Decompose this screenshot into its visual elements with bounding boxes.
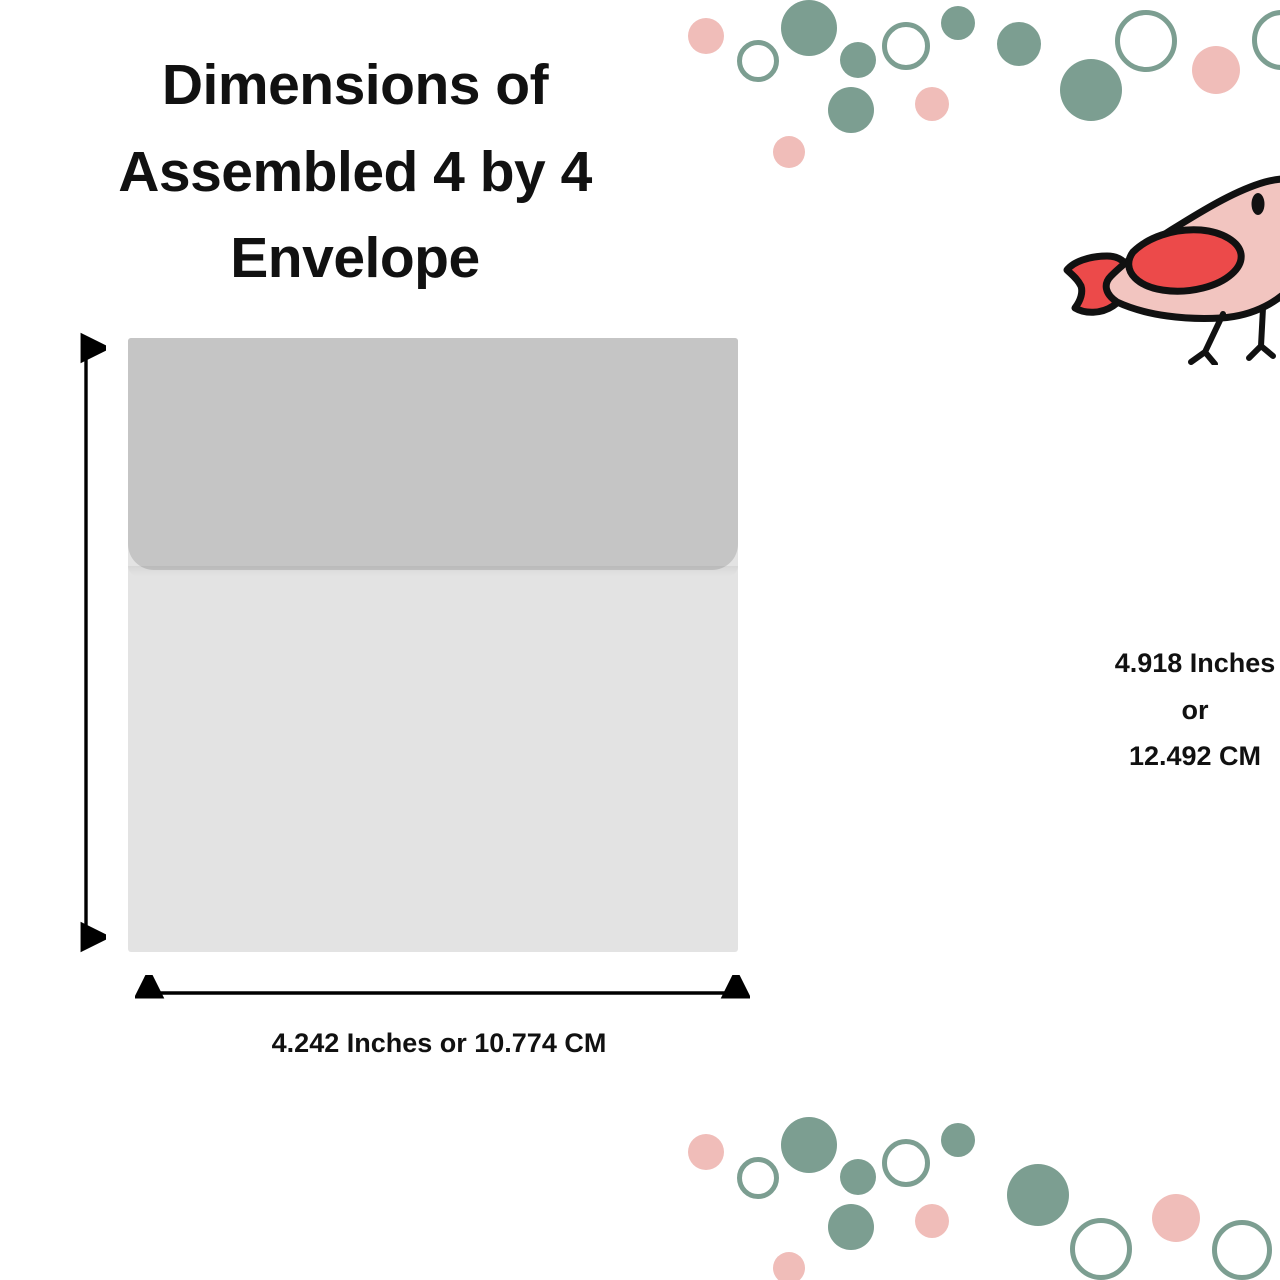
decorative-dot-icon [915, 1204, 949, 1238]
bird-eye-icon [1252, 193, 1265, 215]
decorative-dot-icon [1007, 1164, 1069, 1226]
poster-canvas: Dimensions of Assembled 4 by 4 Envelope [0, 0, 1280, 1280]
bird-wing [1129, 230, 1241, 291]
decorative-dot-icon [941, 1123, 975, 1157]
decorative-ring-icon [737, 1157, 779, 1199]
bird-illustration [1055, 150, 1280, 365]
decorative-dot-icon [688, 1134, 724, 1170]
decorative-ring-icon [1070, 1218, 1132, 1280]
decorative-dot-icon [840, 1159, 876, 1195]
bird-leg-right [1249, 308, 1273, 358]
decorative-dot-icon [828, 1204, 874, 1250]
decorative-dot-icon [1152, 1194, 1200, 1242]
decorative-ring-icon [882, 1139, 930, 1187]
decorative-dot-icon [781, 1117, 837, 1173]
decorative-ring-icon [1212, 1220, 1272, 1280]
decorative-dot-icon [773, 1252, 805, 1280]
